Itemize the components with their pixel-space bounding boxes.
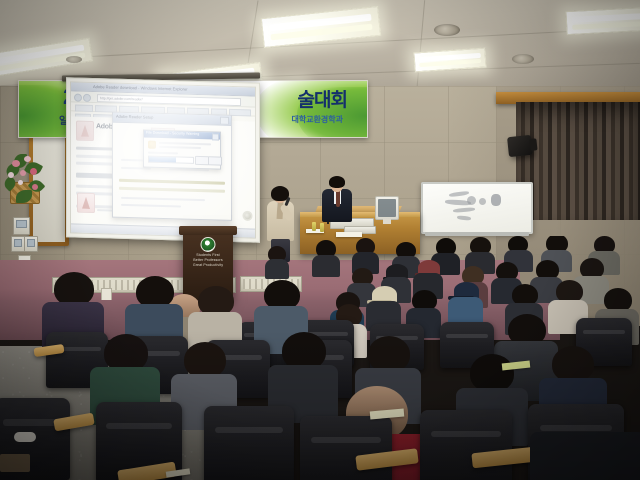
setup-dialog-title-bar: Adobe Reader Setup [113,113,231,126]
download-progress-bar [148,156,194,164]
banner-title: 술대회 [298,85,347,112]
auditorium-seat [300,416,392,480]
ceiling-sprinkler [512,54,534,64]
adobe-reader-icon [76,121,94,142]
close-icon[interactable] [212,133,219,140]
ceiling-speaker [434,24,460,36]
auditorium-seat [420,410,512,480]
wall-control-panel[interactable] [13,217,30,235]
loading-spinner-icon [244,212,251,219]
whiteboard [421,182,533,234]
ceiling-vent [66,56,82,63]
download-security-dialog[interactable]: File Download - Security Warning [143,129,221,169]
run-button[interactable] [195,156,209,165]
shoe [14,432,36,442]
projection-screen: Adobe Reader download - Windows Internet… [66,77,260,242]
address-value: http://get.adobe.com/reader/ [100,96,143,101]
window-curtain [516,102,640,220]
audience-area [0,236,640,480]
pdf-file-icon [77,193,95,214]
wall-speaker-icon [507,135,533,157]
close-icon[interactable] [220,117,229,125]
moderator [322,176,354,222]
water-bottle [312,222,316,231]
toolbar-item[interactable] [75,104,93,112]
setup-dialog-title: Adobe Reader Setup [116,114,153,120]
back-icon[interactable] [74,94,82,102]
ceiling-light [565,7,640,35]
banner-subtitle-right: 대학교환경학과 [291,114,343,125]
flower-basket [2,146,48,208]
toolbar-item[interactable] [229,108,251,116]
forward-icon[interactable] [83,94,91,102]
desk-monitor [375,196,399,220]
download-dialog-title-bar: File Download - Security Warning [144,130,220,139]
cancel-button[interactable] [208,156,222,165]
lecture-hall-photo: 2 술대회 일시 대학교환경학과 Adobe Reader download -… [0,0,640,480]
download-dialog-title: File Download - Security Warning [146,131,199,136]
auditorium-seat [204,406,294,480]
water-bottle [320,223,324,232]
bag [0,454,30,472]
warning-icon [148,141,156,149]
